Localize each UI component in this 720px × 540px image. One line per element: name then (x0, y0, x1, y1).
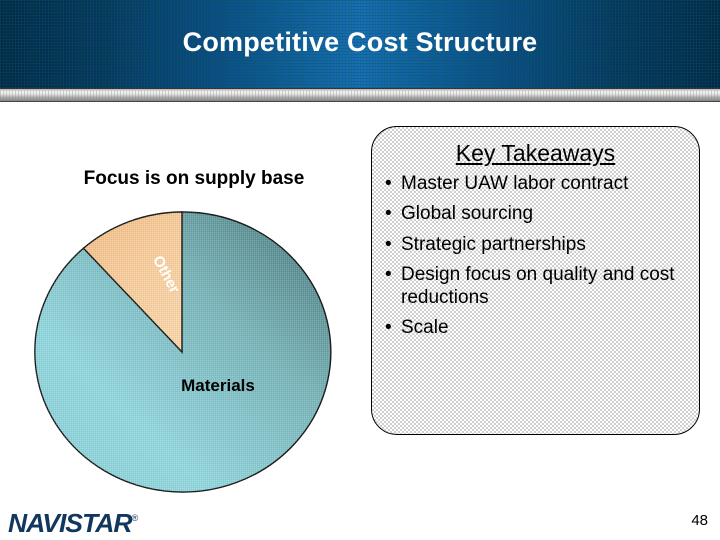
pie-label-materials: Materials (138, 376, 298, 396)
list-item: Strategic partnerships (384, 234, 689, 256)
page-title: Competitive Cost Structure (0, 27, 720, 58)
pie-dither-overlay (34, 212, 330, 492)
page-number: 48 (691, 512, 708, 529)
title-separator-bar (0, 88, 720, 102)
navistar-logo: NAVISTAR® (8, 508, 137, 539)
list-item: Design focus on quality and cost reducti… (384, 264, 689, 309)
key-takeaways-box: Key Takeaways Master UAW labor contract … (371, 126, 700, 435)
focus-heading: Focus is on supply base (44, 168, 344, 190)
list-item: Master UAW labor contract (384, 173, 689, 195)
key-takeaways-title: Key Takeaways (372, 140, 699, 167)
navistar-logo-text: NAVISTAR (8, 508, 131, 538)
pie-chart: Materials Other (30, 208, 340, 498)
list-item: Global sourcing (384, 203, 689, 225)
pie-chart-svg (30, 208, 340, 498)
list-item: Scale (384, 317, 689, 339)
slide-title-bar: Competitive Cost Structure (0, 0, 720, 88)
key-takeaways-list: Master UAW labor contract Global sourcin… (372, 173, 699, 339)
registered-trademark-icon: ® (131, 513, 137, 523)
